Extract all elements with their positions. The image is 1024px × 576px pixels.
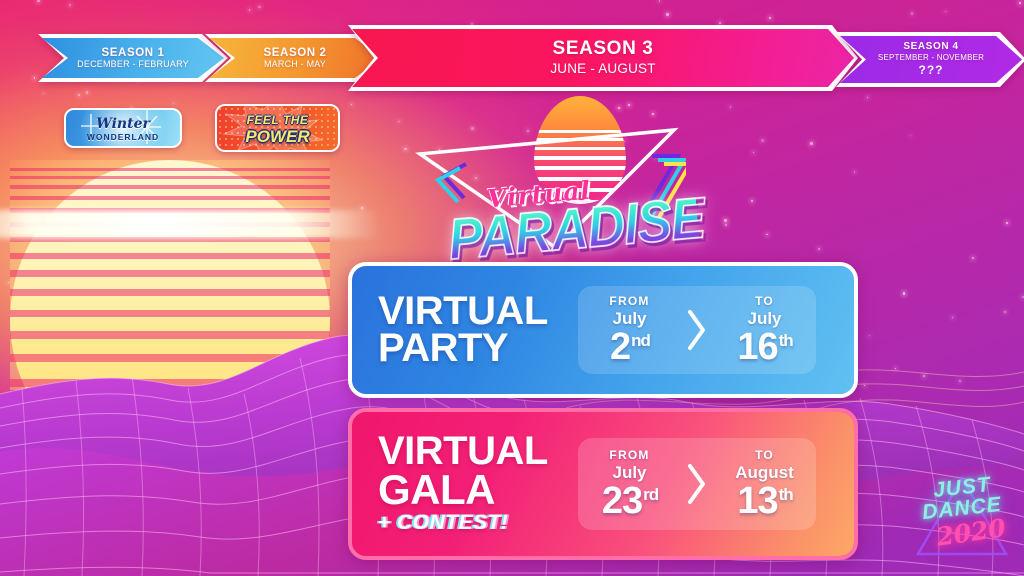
date-to-label: TO xyxy=(713,448,816,462)
date-to: TO August 13th xyxy=(713,448,816,519)
season-item-4[interactable]: SEASON 4 SEPTEMBER - NOVEMBER ??? xyxy=(836,32,1024,87)
card-title-line1: VIRTUAL xyxy=(378,293,578,330)
card-title-line2: PARTY xyxy=(378,330,578,367)
season-name: SEASON 1 xyxy=(102,47,165,59)
badge-subtitle: WONDERLAND xyxy=(66,132,180,142)
badge-title: Winter xyxy=(66,116,180,132)
just-dance-logo: JUST DANCE 2020 xyxy=(910,470,1014,562)
date-range-box: FROM July 23rd TO August 13th xyxy=(578,438,816,530)
season-name: SEASON 3 xyxy=(553,39,654,59)
card-title-line2: GALA xyxy=(378,470,578,509)
card-title: VIRTUAL PARTY xyxy=(352,293,578,367)
date-to: TO July 16th xyxy=(713,294,816,365)
arrow-right-icon xyxy=(681,462,713,506)
badge-subtitle: POWER xyxy=(217,127,338,147)
season-range: JUNE - AUGUST xyxy=(550,61,655,77)
season-timeline: SEASON 1 DECEMBER - FEBRUARY SEASON 2 MA… xyxy=(0,0,1024,104)
event-card-virtual-party[interactable]: VIRTUAL PARTY FROM July 2nd TO July 16th xyxy=(348,262,858,398)
season-name: SEASON 4 xyxy=(903,42,958,53)
date-from-label: FROM xyxy=(578,448,681,462)
virtual-paradise-logo: Virtual PARADISE xyxy=(404,96,716,271)
horizon-glow xyxy=(0,210,380,238)
arrow-right-icon xyxy=(681,308,713,352)
season-range: SEPTEMBER - NOVEMBER xyxy=(878,53,984,62)
date-to-day: 13th xyxy=(713,483,816,519)
season-range: DECEMBER - FEBRUARY xyxy=(77,59,189,69)
season-item-3[interactable]: SEASON 3 JUNE - AUGUST xyxy=(348,25,858,91)
date-from-day: 2nd xyxy=(578,329,681,365)
date-to-day: 16th xyxy=(713,329,816,365)
season-item-1[interactable]: SEASON 1 DECEMBER - FEBRUARY xyxy=(38,34,228,82)
date-from: FROM July 2nd xyxy=(578,294,681,365)
date-range-box: FROM July 2nd TO July 16th xyxy=(578,286,816,374)
date-to-label: TO xyxy=(713,294,816,308)
date-from-day: 23rd xyxy=(578,483,681,519)
card-title: VIRTUAL GALA + CONTEST! xyxy=(352,433,578,535)
date-from-label: FROM xyxy=(578,294,681,308)
event-card-virtual-gala[interactable]: VIRTUAL GALA + CONTEST! FROM July 23rd T… xyxy=(348,408,858,560)
season-unknown-label: ??? xyxy=(919,63,944,77)
badge-title: FEEL THE xyxy=(217,113,338,127)
poster-canvas: SEASON 1 DECEMBER - FEBRUARY SEASON 2 MA… xyxy=(0,0,1024,576)
card-title-line1: VIRTUAL xyxy=(378,433,578,470)
season-badge-feel-the-power[interactable]: FEEL THE POWER xyxy=(215,104,340,152)
season-range: MARCH - MAY xyxy=(264,59,326,69)
card-title-line3: + CONTEST! xyxy=(378,511,578,535)
season-name: SEASON 2 xyxy=(264,47,327,59)
date-from: FROM July 23rd xyxy=(578,448,681,519)
season-badge-winter-wonderland[interactable]: Winter WONDERLAND xyxy=(64,108,182,148)
